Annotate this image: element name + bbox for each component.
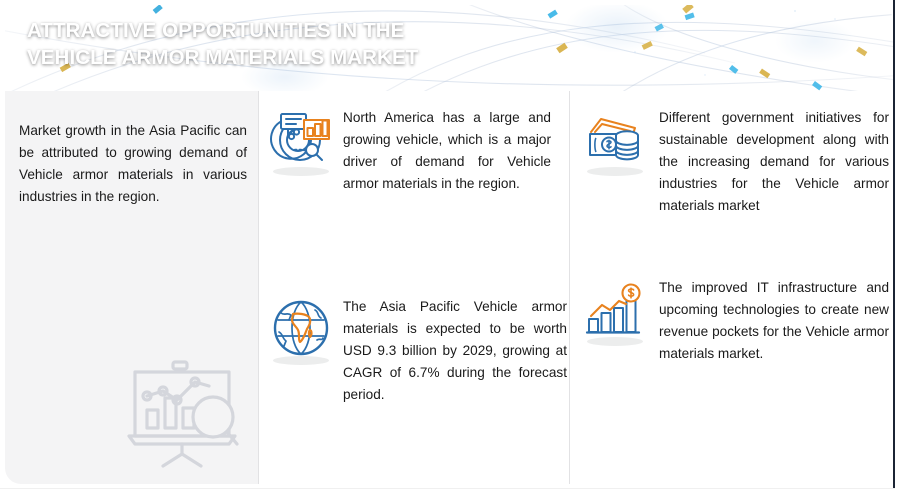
frame-border-right [893,0,895,489]
infographic-root: ATTRACTIVE OPPORTUNITIES IN THE VEHICLE … [0,0,900,489]
card-government-initiatives: Different government initiatives for sus… [583,107,889,217]
title-line-1: ATTRACTIVE OPPORTUNITIES IN THE [27,17,587,44]
card-it-text: The improved IT infrastructure and upcom… [659,277,889,365]
content-area: Market growth in the Asia Pacific can be… [5,91,893,484]
card-it-infrastructure: The improved IT infrastructure and upcom… [583,277,889,365]
growth-barchart-dollar-icon [583,277,647,341]
percentage-search-barchart-icon [269,107,333,171]
money-cash-coins-icon [583,107,647,171]
left-panel-paragraph: Market growth in the Asia Pacific can be… [19,120,247,208]
card-north-america-demand: North America has a large and growing ve… [269,107,565,195]
presentation-board-analytics-icon [117,356,247,468]
header-banner: ATTRACTIVE OPPORTUNITIES IN THE VEHICLE … [5,5,893,91]
card-asia-pacific-text: The Asia Pacific Vehicle armor materials… [343,296,567,406]
page-title: ATTRACTIVE OPPORTUNITIES IN THE VEHICLE … [27,17,587,72]
card-government-text: Different government initiatives for sus… [659,107,889,217]
globe-icon [269,296,333,360]
middle-column: North America has a large and growing ve… [259,91,569,484]
title-line-2: VEHICLE ARMOR MATERIALS MARKET [27,44,587,71]
card-north-america-text: North America has a large and growing ve… [343,107,551,195]
card-asia-pacific-forecast: The Asia Pacific Vehicle armor materials… [269,296,567,406]
right-column: Different government initiatives for sus… [570,91,893,484]
left-panel: Market growth in the Asia Pacific can be… [5,91,258,484]
